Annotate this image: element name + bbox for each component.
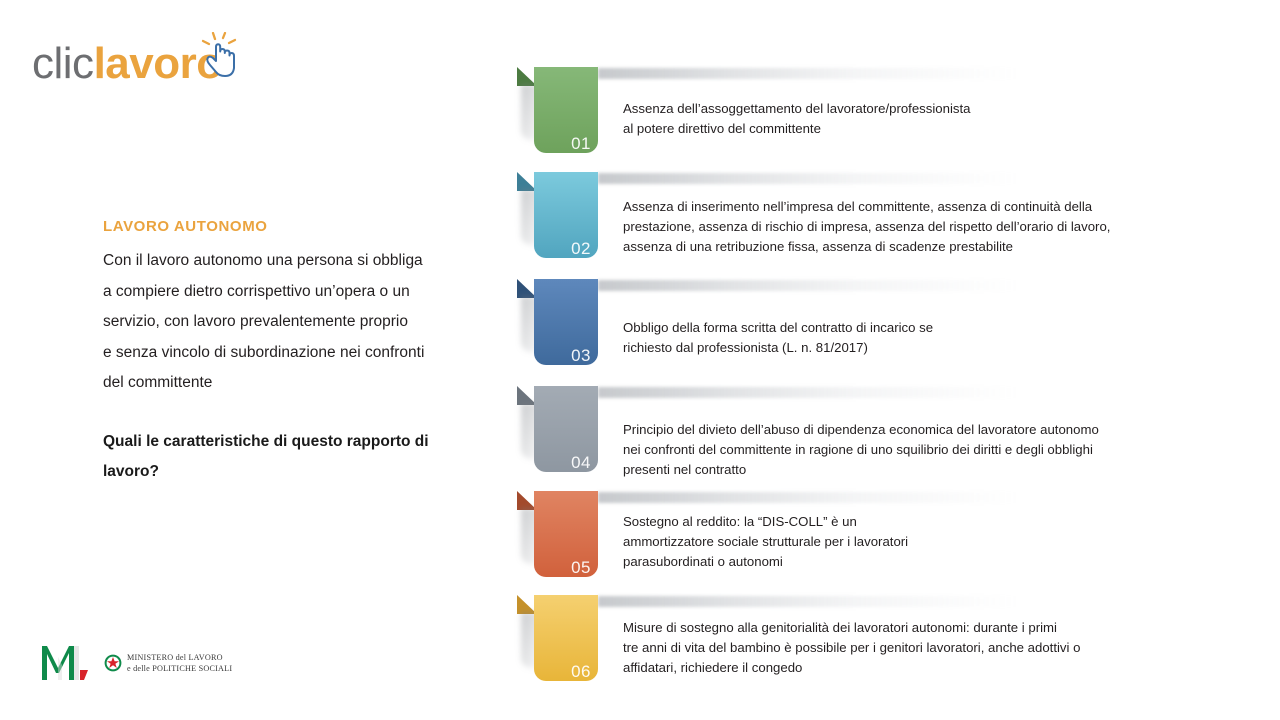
item-text-line: Principio del divieto dell’abuso di dipe… xyxy=(623,420,1243,440)
item-number: 04 xyxy=(571,454,591,471)
item-text: Sostegno al reddito: la “DIS-COLL” è un … xyxy=(623,512,1243,572)
item-text-line: prestazione, assenza di rischio di impre… xyxy=(623,217,1243,237)
ministry-logo: MINISTERO del LAVORO e delle POLITICHE S… xyxy=(38,640,238,690)
ribbon-marker: 01 xyxy=(512,62,622,162)
item-text-line: presenti nel contratto xyxy=(623,460,1243,480)
ribbon-marker: 06 xyxy=(512,590,622,690)
ministry-name-line1: MINISTERO del LAVORO xyxy=(127,653,232,664)
item-number: 03 xyxy=(571,347,591,364)
paragraph-line: del committente xyxy=(103,368,473,399)
question-line: Quali le caratteristiche di questo rappo… xyxy=(103,427,473,458)
item-text-line: ammortizzatore sociale strutturale per i… xyxy=(623,532,1243,552)
paragraph-line: e senza vincolo di subordinazione nei co… xyxy=(103,338,473,369)
ribbon-shadow-band xyxy=(598,387,1018,398)
ribbon-tab: 04 xyxy=(534,386,598,472)
ribbon-marker: 05 xyxy=(512,486,622,586)
item-text-line: richiesto dal professionista (L. n. 81/2… xyxy=(623,338,1243,358)
item-text-line: affidatari, richiedere il congedo xyxy=(623,658,1243,678)
question-line: lavoro? xyxy=(103,457,473,488)
ribbon-shadow-band xyxy=(598,173,1018,184)
item-text-line: nei confronti del committente in ragione… xyxy=(623,440,1243,460)
item-text: Assenza dell’assoggettamento del lavorat… xyxy=(623,99,1243,139)
ribbon-marker: 03 xyxy=(512,274,622,374)
characteristics-list: 01 Assenza dell’assoggettamento del lavo… xyxy=(512,0,1280,720)
ribbon-tab: 06 xyxy=(534,595,598,681)
ribbon-tab: 01 xyxy=(534,67,598,153)
ribbon-tab: 05 xyxy=(534,491,598,577)
ribbon-tab: 03 xyxy=(534,279,598,365)
pointing-hand-click-icon xyxy=(199,32,247,80)
item-text: Obbligo della forma scritta del contratt… xyxy=(623,318,1243,358)
ribbon-tab: 02 xyxy=(534,172,598,258)
brand-wordmark: cliclavoro xyxy=(32,42,223,86)
item-text: Misure di sostegno alla genitorialità de… xyxy=(623,618,1243,678)
ribbon-shadow-band xyxy=(598,280,1018,291)
item-text-line: Assenza di inserimento nell’impresa del … xyxy=(623,197,1243,217)
item-text-line: Obbligo della forma scritta del contratt… xyxy=(623,318,1243,338)
section-question: Quali le caratteristiche di questo rappo… xyxy=(103,427,473,488)
cliclavoro-logo: cliclavoro xyxy=(32,26,262,96)
item-text-line: Assenza dell’assoggettamento del lavorat… xyxy=(623,99,1243,119)
item-text: Principio del divieto dell’abuso di dipe… xyxy=(623,420,1243,480)
item-text: Assenza di inserimento nell’impresa del … xyxy=(623,197,1243,257)
item-text-line: al potere direttivo del committente xyxy=(623,119,1243,139)
ribbon-shadow-band xyxy=(598,596,1018,607)
ribbon-shadow-band xyxy=(598,492,1018,503)
paragraph-line: servizio, con lavoro prevalentemente pro… xyxy=(103,307,473,338)
section-paragraph: Con il lavoro autonomo una persona si ob… xyxy=(103,246,473,399)
paragraph-line: Con il lavoro autonomo una persona si ob… xyxy=(103,246,473,277)
section-kicker: LAVORO AUTONOMO xyxy=(103,218,473,236)
paragraph-line: a compiere dietro corrispettivo un’opera… xyxy=(103,277,473,308)
left-description-panel: LAVORO AUTONOMO Con il lavoro autonomo u… xyxy=(103,218,473,488)
item-number: 02 xyxy=(571,240,591,257)
ministry-name-line2: e delle POLITICHE SOCIALI xyxy=(127,664,232,675)
item-text-line: tre anni di vita del bambino è possibile… xyxy=(623,638,1243,658)
item-text-line: assenza di una retribuzione fissa, assen… xyxy=(623,237,1243,257)
item-text-line: parasubordinati o autonomi xyxy=(623,552,1243,572)
ribbon-marker: 04 xyxy=(512,381,622,481)
ribbon-marker: 02 xyxy=(512,167,622,267)
ribbon-shadow-band xyxy=(598,68,1018,79)
item-text-line: Misure di sostegno alla genitorialità de… xyxy=(623,618,1243,638)
ministry-monogram-icon xyxy=(38,640,100,684)
ministry-name: MINISTERO del LAVORO e delle POLITICHE S… xyxy=(127,653,232,674)
italian-republic-emblem-icon xyxy=(104,654,122,672)
item-number: 06 xyxy=(571,663,591,680)
brand-name-part1: clic xyxy=(32,39,94,88)
item-text-line: Sostegno al reddito: la “DIS-COLL” è un xyxy=(623,512,1243,532)
item-number: 01 xyxy=(571,135,591,152)
item-number: 05 xyxy=(571,559,591,576)
